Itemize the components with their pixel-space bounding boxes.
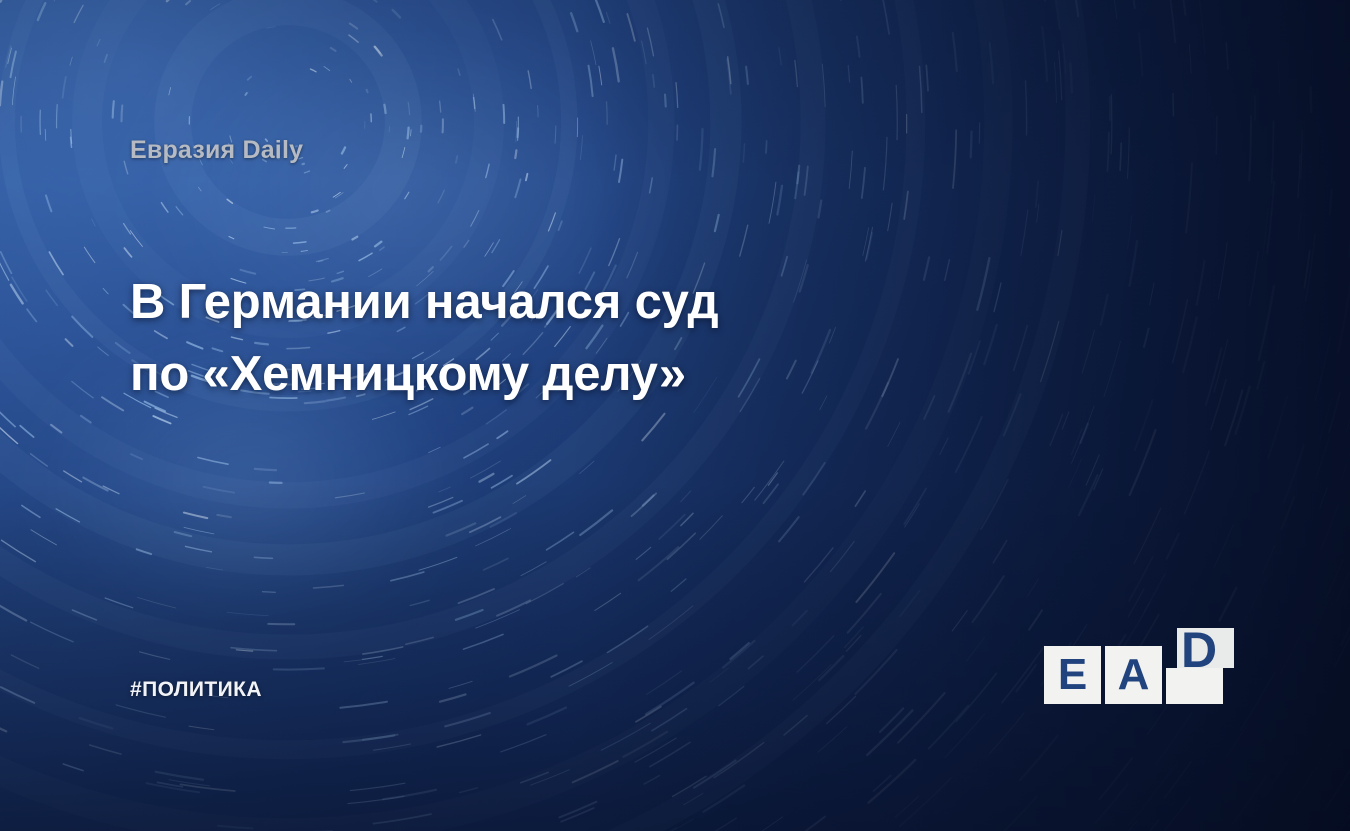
logo-letter-d-upper-glyph: D: [1181, 629, 1217, 669]
card-content: Евразия Daily В Германии начался суд по …: [0, 0, 1350, 831]
logo-letter-d-upper: D: [1177, 629, 1234, 669]
headline: В Германии начался суд по «Хемницкому де…: [130, 266, 890, 410]
eadaily-logo[interactable]: E A D D: [1044, 628, 1224, 704]
logo-letter-d-lower: D: [1166, 668, 1223, 704]
logo-tile-a: A: [1105, 646, 1162, 704]
hashtag-politics[interactable]: #ПОЛИТИКА: [130, 678, 262, 702]
headline-line-2: по «Хемницкому делу»: [130, 338, 890, 410]
news-card: Евразия Daily В Германии начался суд по …: [0, 0, 1350, 831]
logo-letter-d-lower-glyph: D: [1181, 668, 1217, 675]
logo-tile-e: E: [1044, 646, 1101, 704]
brand-name: Евразия Daily: [130, 136, 303, 165]
headline-line-1: В Германии начался суд: [130, 266, 890, 338]
